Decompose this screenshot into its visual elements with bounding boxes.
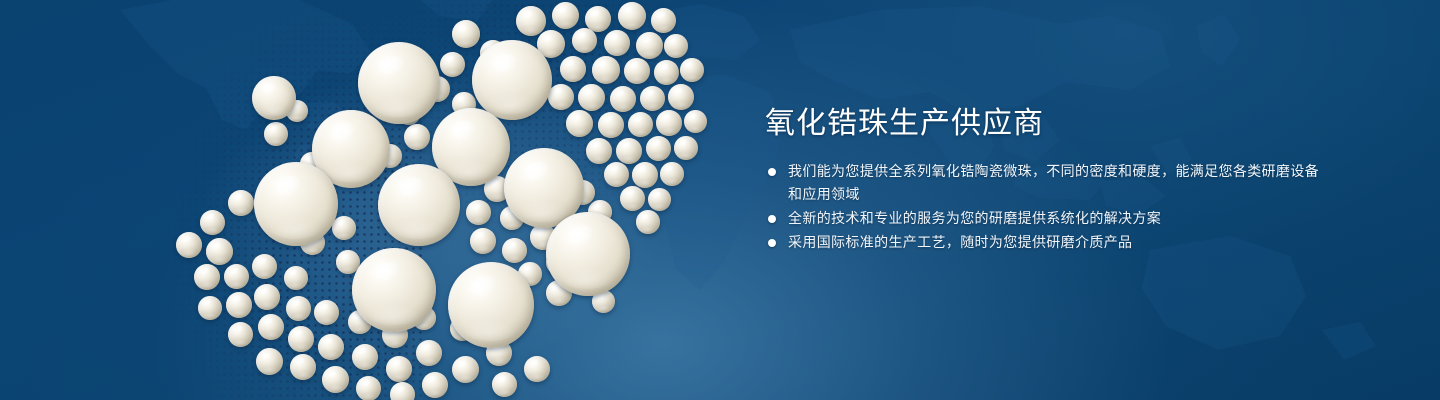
list-item: 采用国际标准的生产工艺，随时为您提供研磨介质产品 xyxy=(765,231,1325,254)
bullet-dot-icon xyxy=(768,168,776,176)
bullet-text: 我们能为您提供全系列氧化锆陶瓷微珠，不同的密度和硬度，能满足您各类研磨设备和应用… xyxy=(788,163,1319,202)
banner-headline: 氧化锆珠生产供应商 xyxy=(765,104,1325,144)
bullet-text: 采用国际标准的生产工艺，随时为您提供研磨介质产品 xyxy=(788,234,1132,250)
bullet-dot-icon xyxy=(768,239,776,247)
hero-banner: 氧化锆珠生产供应商 我们能为您提供全系列氧化锆陶瓷微珠，不同的密度和硬度，能满足… xyxy=(0,0,1440,400)
banner-copy: 氧化锆珠生产供应商 我们能为您提供全系列氧化锆陶瓷微珠，不同的密度和硬度，能满足… xyxy=(765,104,1325,255)
list-item: 我们能为您提供全系列氧化锆陶瓷微珠，不同的密度和硬度，能满足您各类研磨设备和应用… xyxy=(765,160,1325,206)
bullet-text: 全新的技术和专业的服务为您的研磨提供系统化的解决方案 xyxy=(788,210,1161,226)
list-item: 全新的技术和专业的服务为您的研磨提供系统化的解决方案 xyxy=(765,207,1325,230)
bullet-dot-icon xyxy=(768,215,776,223)
banner-bullet-list: 我们能为您提供全系列氧化锆陶瓷微珠，不同的密度和硬度，能满足您各类研磨设备和应用… xyxy=(765,160,1325,254)
